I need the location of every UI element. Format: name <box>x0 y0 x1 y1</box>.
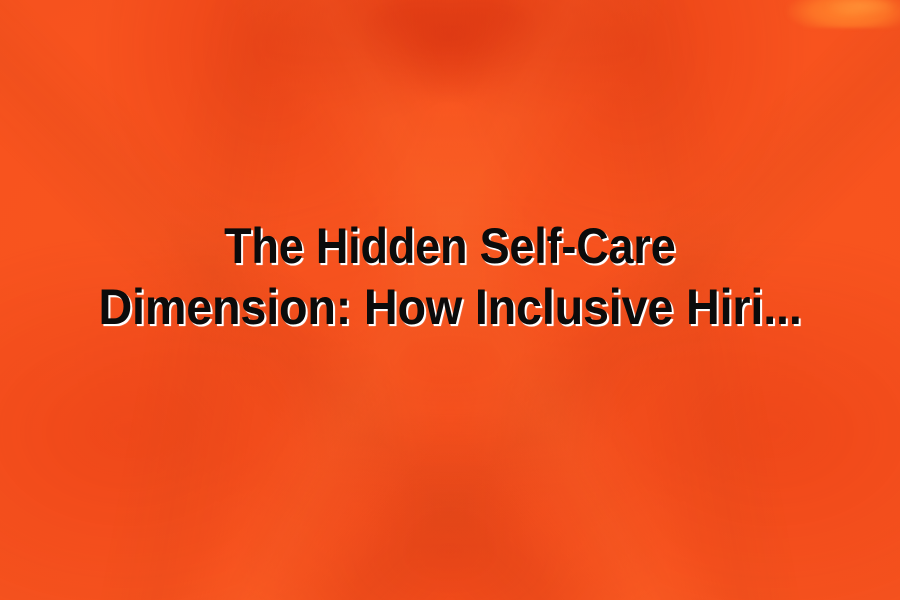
title-line-1: The Hidden Self-Care <box>224 216 675 277</box>
title-line-2: Dimension: How Inclusive Hiri... <box>98 277 801 338</box>
title-block: The Hidden Self-Care Dimension: How Incl… <box>0 216 900 338</box>
background-highlight-blob-top-right-2 <box>824 0 896 16</box>
title-card: The Hidden Self-Care Dimension: How Incl… <box>0 0 900 600</box>
